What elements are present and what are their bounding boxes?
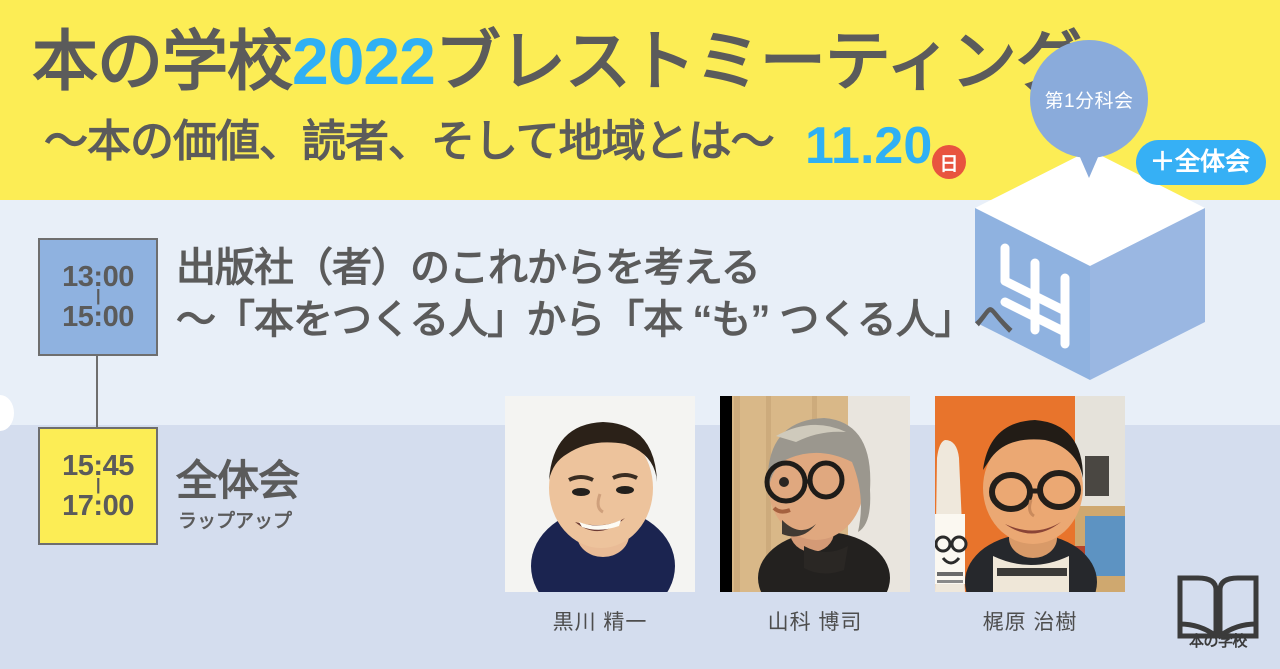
- time-box-session-2: 15:45 | 17:00: [38, 427, 158, 545]
- timeline-connector: [96, 355, 98, 427]
- session-1-title-line1: 出版社（者）のこれからを考える: [176, 248, 760, 288]
- session-2-subtitle: ラップアップ: [178, 512, 292, 531]
- session-1-title-line2: 〜「本をつくる人」から「本 “も” つくる人」へ: [176, 300, 1013, 340]
- session-1-end-time: 15:00: [62, 302, 134, 332]
- bunkakai-label: 第1分科会: [1044, 86, 1133, 113]
- speaker-photo: [505, 396, 695, 592]
- speaker-card: 梶原 治樹: [935, 396, 1125, 636]
- time-range-dash: |: [96, 293, 100, 299]
- session-2-title: 全体会: [176, 460, 299, 502]
- event-date: 11.20: [805, 120, 932, 172]
- speaker-name: 山科 博司: [720, 606, 910, 636]
- speaker-card: 山科 博司: [720, 396, 910, 636]
- time-box-session-1: 13:00 | 15:00: [38, 238, 158, 356]
- bubble-tail: [1076, 148, 1102, 178]
- speaker-name: 黒川 精一: [505, 606, 695, 636]
- speaker-photo: [720, 396, 910, 592]
- speaker-list: 黒川 精一: [505, 396, 1165, 646]
- page-title: 本の学校2022ブレストミーティング: [32, 28, 1081, 94]
- speaker-card: 黒川 精一: [505, 396, 695, 636]
- speaker-photo: [935, 396, 1125, 592]
- time-range-dash: |: [96, 482, 100, 488]
- title-part2: ブレストミーティング: [435, 24, 1081, 98]
- event-poster: 本の学校2022ブレストミーティング 〜本の価値、読者、そして地域とは〜 11.…: [0, 0, 1280, 669]
- speaker-name: 梶原 治樹: [935, 606, 1125, 636]
- bunkakai-bubble: 第1分科会: [1030, 40, 1148, 158]
- session-2-end-time: 17:00: [62, 491, 134, 521]
- title-part1: 本の学校: [32, 24, 292, 98]
- title-year: 2022: [292, 24, 435, 98]
- logo-label: 本の学校: [1176, 630, 1260, 651]
- page-subtitle: 〜本の価値、読者、そして地域とは〜: [44, 120, 774, 164]
- zentai-badge: ＋全体会: [1136, 140, 1266, 185]
